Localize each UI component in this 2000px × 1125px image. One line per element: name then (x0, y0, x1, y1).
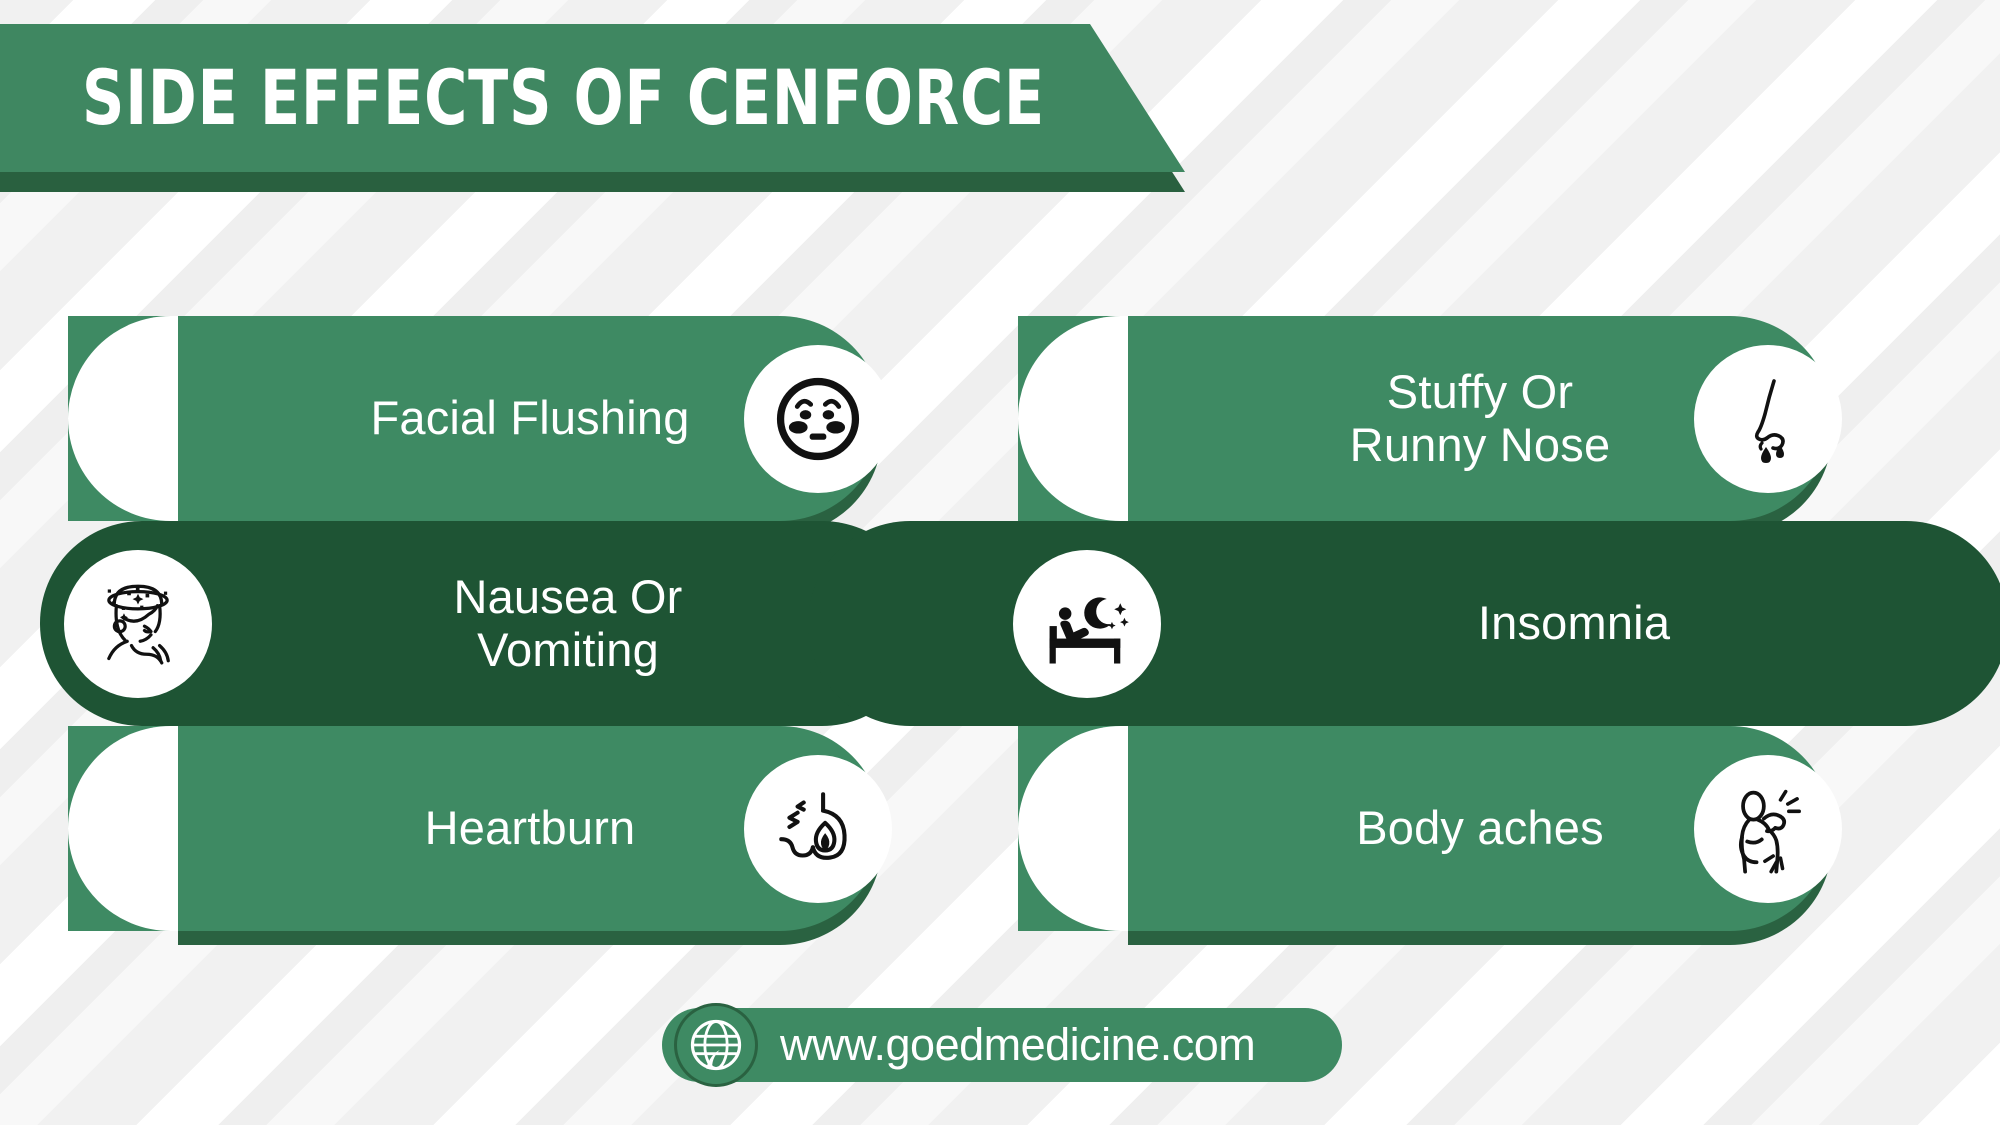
list-item[interactable]: Facial Flushing (178, 316, 882, 521)
pill-left-notch (1018, 726, 1130, 931)
list-item[interactable]: Heartburn (178, 726, 882, 931)
list-item-label-line1: Nausea Or (230, 571, 906, 624)
back-pain-person-icon (1694, 755, 1842, 903)
list-item-label: Insomnia (808, 597, 2000, 650)
right-column: Stuffy Or Runny Nose Insomnia (1000, 316, 1960, 930)
pill-left-notch (68, 316, 180, 521)
pill-left-notch (1018, 316, 1130, 521)
list-item[interactable]: Insomnia (808, 521, 2000, 726)
pill-left-notch (68, 726, 180, 931)
list-item[interactable]: Body aches (1128, 726, 1832, 931)
page-title: SIDE EFFECTS OF CENFORCE (82, 60, 1045, 136)
list-item[interactable]: Stuffy Or Runny Nose (1128, 316, 1832, 521)
nose-drip-icon (1694, 345, 1842, 493)
side-effects-grid: Facial Flushing Nausea Or Vomiting (0, 316, 2000, 930)
dizzy-nauseous-person-icon (64, 550, 212, 698)
list-item-label-line2: Vomiting (230, 624, 906, 677)
website-url-bar[interactable]: www.goedmedicine.com (662, 1008, 1342, 1082)
flushed-face-icon (744, 345, 892, 493)
stomach-flame-icon (744, 755, 892, 903)
globe-icon (674, 1003, 758, 1087)
person-in-bed-moon-icon (1013, 550, 1161, 698)
header-banner: SIDE EFFECTS OF CENFORCE (0, 24, 1185, 172)
website-url-text: www.goedmedicine.com (780, 1019, 1255, 1071)
list-item[interactable]: Nausea Or Vomiting (40, 521, 924, 726)
